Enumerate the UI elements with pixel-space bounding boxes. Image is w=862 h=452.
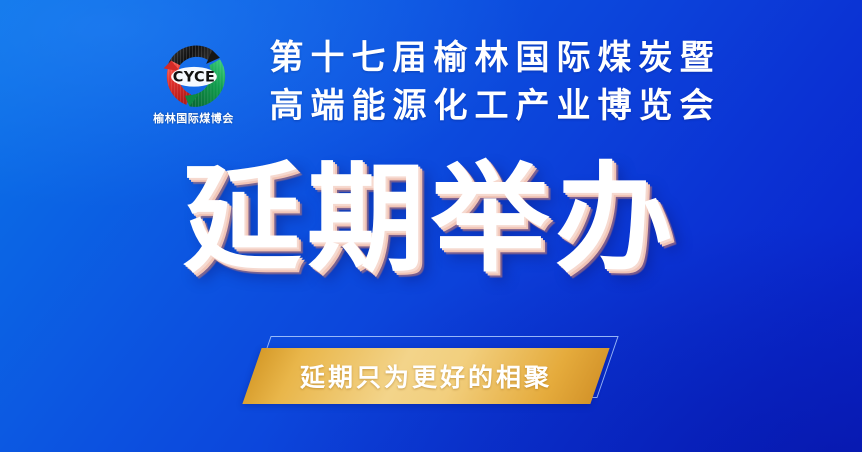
event-title-line-2: 高端能源化工产业博览会 <box>270 82 721 130</box>
event-logo: CYCE 榆林国际煤博会 <box>142 41 246 124</box>
event-title: 第十七届榆林国际煤炭暨 高端能源化工产业博览会 <box>270 34 721 131</box>
logo-caption: 榆林国际煤博会 <box>153 113 234 124</box>
logo-acronym-text: CYCE <box>172 69 215 85</box>
banner-subtitle-text: 延期只为更好的相聚 <box>246 348 606 404</box>
headline-postponed: 延期举办 <box>0 160 862 278</box>
poster-header: CYCE 榆林国际煤博会 第十七届榆林国际煤炭暨 高端能源化工产业博览会 <box>0 34 862 131</box>
cyce-logo-icon: CYCE <box>155 41 233 111</box>
subtitle-banner: 延期只为更好的相聚 <box>246 330 626 412</box>
poster-canvas: CYCE 榆林国际煤博会 第十七届榆林国际煤炭暨 高端能源化工产业博览会 延期举… <box>0 0 862 452</box>
event-title-line-1: 第十七届榆林国际煤炭暨 <box>270 34 721 82</box>
